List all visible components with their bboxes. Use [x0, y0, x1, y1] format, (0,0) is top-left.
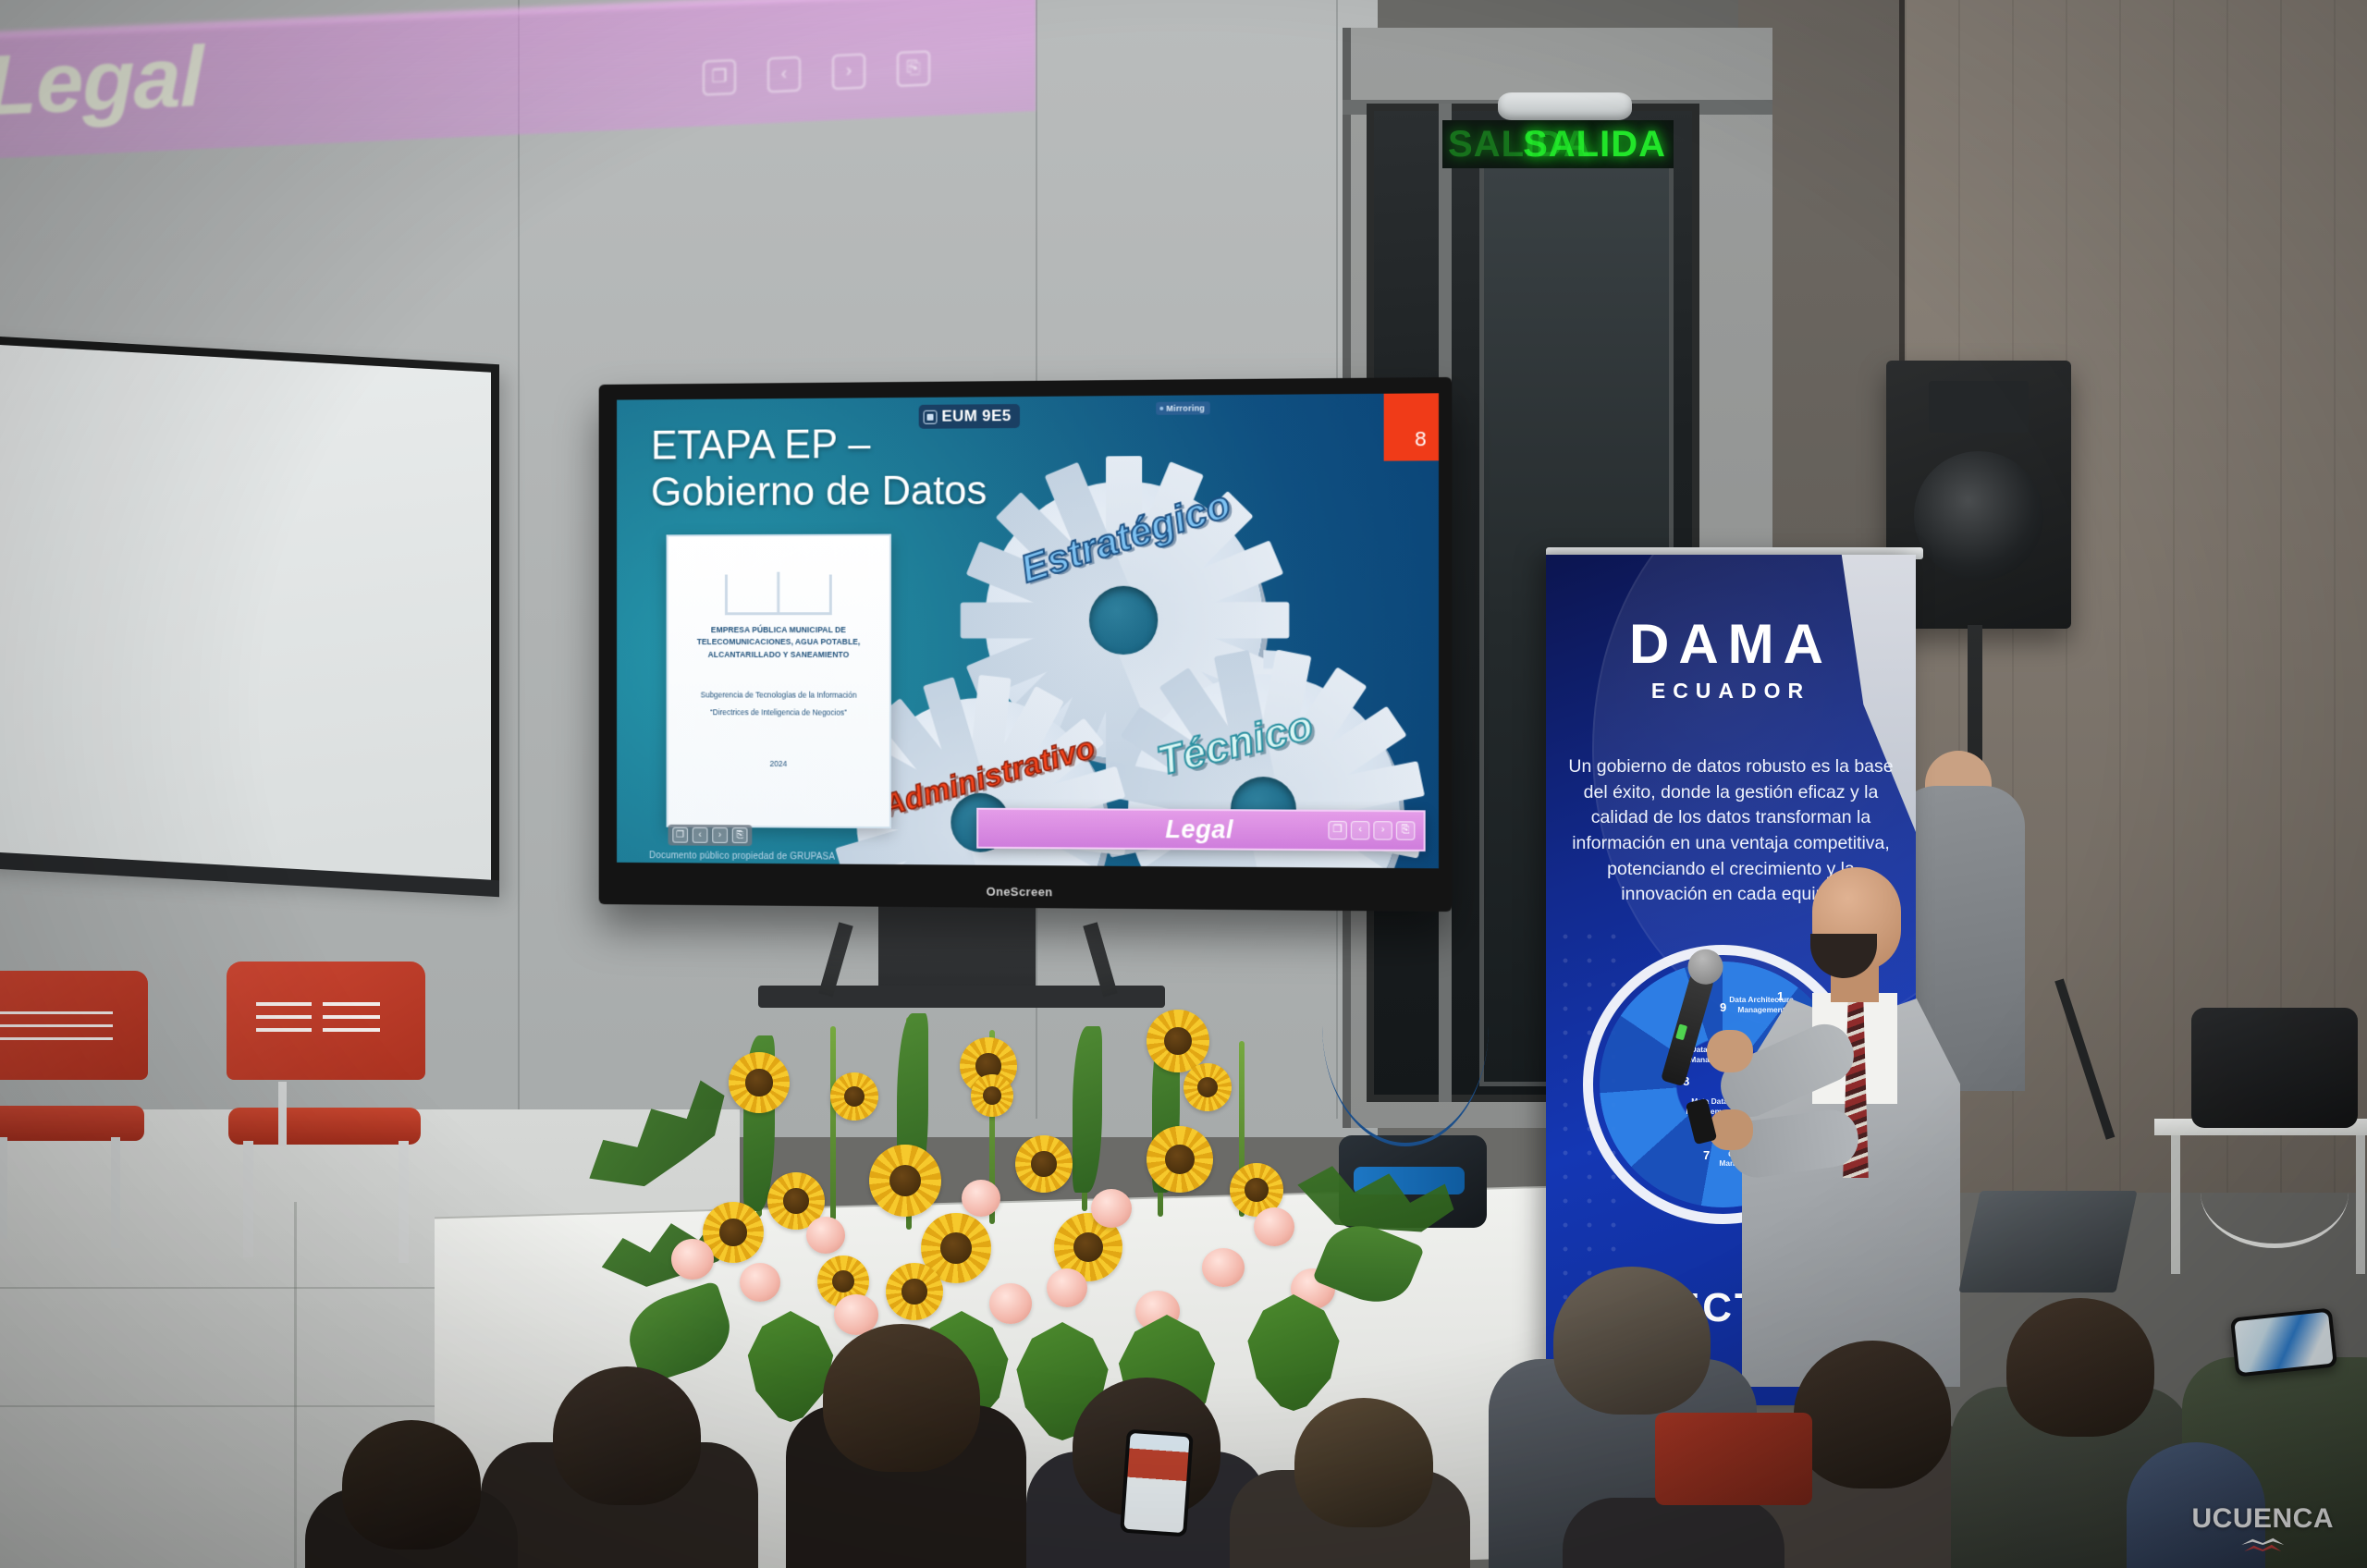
display-brand-label: OneScreen	[599, 881, 1453, 902]
legal-next-button[interactable]: ›	[1373, 821, 1392, 839]
doc-snapshot-button[interactable]: ❐	[672, 827, 688, 843]
rose	[1202, 1248, 1245, 1287]
chair-left	[0, 971, 148, 1193]
doc-next-button[interactable]: ›	[712, 827, 728, 843]
mirroring-dot-icon	[1159, 407, 1163, 410]
conference-room-photo: SALIDA SALIDA Legal ❐ ‹ › ⎘	[0, 0, 2367, 1568]
rose	[1091, 1189, 1132, 1228]
sunflower	[1147, 1126, 1213, 1193]
audience-chair	[1655, 1413, 1812, 1505]
audience-phone[interactable]	[2230, 1307, 2337, 1377]
sunflower	[830, 1072, 878, 1121]
mirroring-status-pill: Mirroring	[1156, 401, 1210, 415]
legal-banner-label: Legal	[1165, 815, 1233, 844]
interactive-display[interactable]: OneScreen ETAPA EP – Gobierno de Datos E…	[599, 377, 1453, 912]
eum-badge-label: EUM 9E5	[941, 407, 1011, 426]
eum-device-badge: EUM 9E5	[919, 404, 1020, 429]
side-table-leg	[2356, 1135, 2365, 1274]
watermark-mountain-icon	[2192, 1537, 2335, 1551]
slide-page-number: 8	[1415, 427, 1427, 451]
projected-next-icon: ›	[832, 54, 865, 91]
sunflower	[1147, 1010, 1209, 1072]
device-icon	[924, 410, 938, 423]
speaker-cone	[1914, 451, 2043, 581]
exit-sign: SALIDA SALIDA	[1442, 120, 1674, 168]
rose	[1047, 1268, 1087, 1307]
audience-member-head	[342, 1420, 481, 1550]
projected-snapshot-icon: ❐	[703, 59, 736, 96]
projected-prev-icon: ‹	[767, 56, 801, 93]
sunflower	[886, 1263, 943, 1320]
rose	[671, 1239, 714, 1280]
legal-share-button[interactable]: ⎘	[1396, 821, 1415, 839]
audience-member-head	[1794, 1341, 1951, 1488]
floral-arrangement	[592, 1017, 1479, 1405]
rose	[740, 1263, 780, 1302]
document-year: 2024	[679, 759, 878, 769]
presenter-hand-mic	[1707, 1030, 1753, 1072]
chair-right	[227, 962, 430, 1220]
sunflower	[1183, 1063, 1232, 1111]
audience-member-body	[1563, 1498, 1784, 1568]
display-screen[interactable]: ETAPA EP – Gobierno de Datos EUM 9E5 Mir…	[617, 393, 1439, 868]
presentation-slide: ETAPA EP – Gobierno de Datos EUM 9E5 Mir…	[617, 393, 1439, 868]
audience-phone-2[interactable]	[1120, 1429, 1194, 1537]
slide-footer-caption: Documento público propiedad de GRUPASA	[649, 851, 835, 862]
doc-share-button[interactable]: ⎘	[732, 827, 748, 843]
audience-member-head	[1553, 1267, 1711, 1415]
slide-title-line2: Gobierno de Datos	[651, 468, 987, 516]
dama-brand-subtitle: ECUADOR	[1546, 679, 1916, 704]
legal-snapshot-button[interactable]: ❐	[1328, 821, 1346, 839]
sunflower	[1015, 1135, 1073, 1193]
dama-brand-name: DAMA	[1546, 612, 1916, 676]
sunflower	[729, 1052, 790, 1113]
document-title: “Directrices de Inteligencia de Negocios…	[679, 705, 878, 719]
mirroring-label: Mirroring	[1166, 403, 1205, 412]
exit-sign-reflection: SALIDA	[1448, 124, 1599, 165]
rose	[962, 1180, 1000, 1217]
audience-member-head	[823, 1324, 980, 1472]
projected-legal-label: Legal	[0, 29, 202, 136]
wall-seam	[518, 0, 520, 1119]
sunflower	[869, 1145, 941, 1217]
phone-screen	[2234, 1312, 2333, 1373]
microphone-led-icon	[1675, 1023, 1687, 1040]
side-table-leg	[2171, 1135, 2180, 1274]
greenery	[1073, 1026, 1102, 1193]
power-cable	[2201, 1137, 2349, 1248]
sunflower	[971, 1074, 1013, 1117]
laptop[interactable]	[1958, 1191, 2137, 1292]
document-preview[interactable]: EMPRESA PÚBLICA MUNICIPAL DE TELECOMUNIC…	[667, 534, 891, 829]
floor-tile-line	[294, 1202, 297, 1568]
document-org-name: EMPRESA PÚBLICA MUNICIPAL DE TELECOMUNIC…	[679, 624, 878, 661]
doc-prev-button[interactable]: ‹	[693, 827, 708, 843]
flower-stem	[830, 1026, 836, 1220]
monstera-leaf	[1239, 1294, 1348, 1411]
gear-hub	[1089, 586, 1158, 655]
watermark-text: UCUENCA	[2192, 1503, 2335, 1535]
legal-prev-button[interactable]: ‹	[1351, 821, 1369, 839]
legal-banner: Legal ❐ ‹ › ⎘	[976, 808, 1425, 851]
phone-screen	[1123, 1433, 1189, 1533]
slide-page-tab: 8	[1384, 393, 1439, 460]
venue-watermark: UCUENCA	[2192, 1503, 2335, 1551]
document-department: Subgerencia de Tecnologías de la Informa…	[679, 688, 878, 702]
company-logo-icon	[725, 574, 832, 615]
legal-banner-nav[interactable]: ❐ ‹ › ⎘	[1328, 821, 1415, 840]
audience-member-head	[553, 1366, 701, 1505]
rose	[989, 1283, 1032, 1324]
document-toolbar[interactable]: ❐ ‹ › ⎘	[668, 825, 753, 846]
projected-share-icon: ⎘	[897, 50, 930, 87]
audience-member-head	[2006, 1298, 2154, 1437]
slide-title: ETAPA EP – Gobierno de Datos	[651, 421, 987, 516]
black-bag	[2191, 1008, 2358, 1128]
presenter-hand-clicker	[1709, 1109, 1753, 1150]
display-stand-neck	[878, 906, 1036, 991]
rose	[806, 1217, 845, 1254]
audience-member-head	[1294, 1398, 1433, 1527]
rose	[1254, 1207, 1294, 1246]
speaker-horn	[1929, 381, 2029, 433]
presenter	[1701, 867, 1960, 1385]
whiteboard	[0, 335, 499, 891]
emergency-lamp	[1498, 92, 1632, 120]
